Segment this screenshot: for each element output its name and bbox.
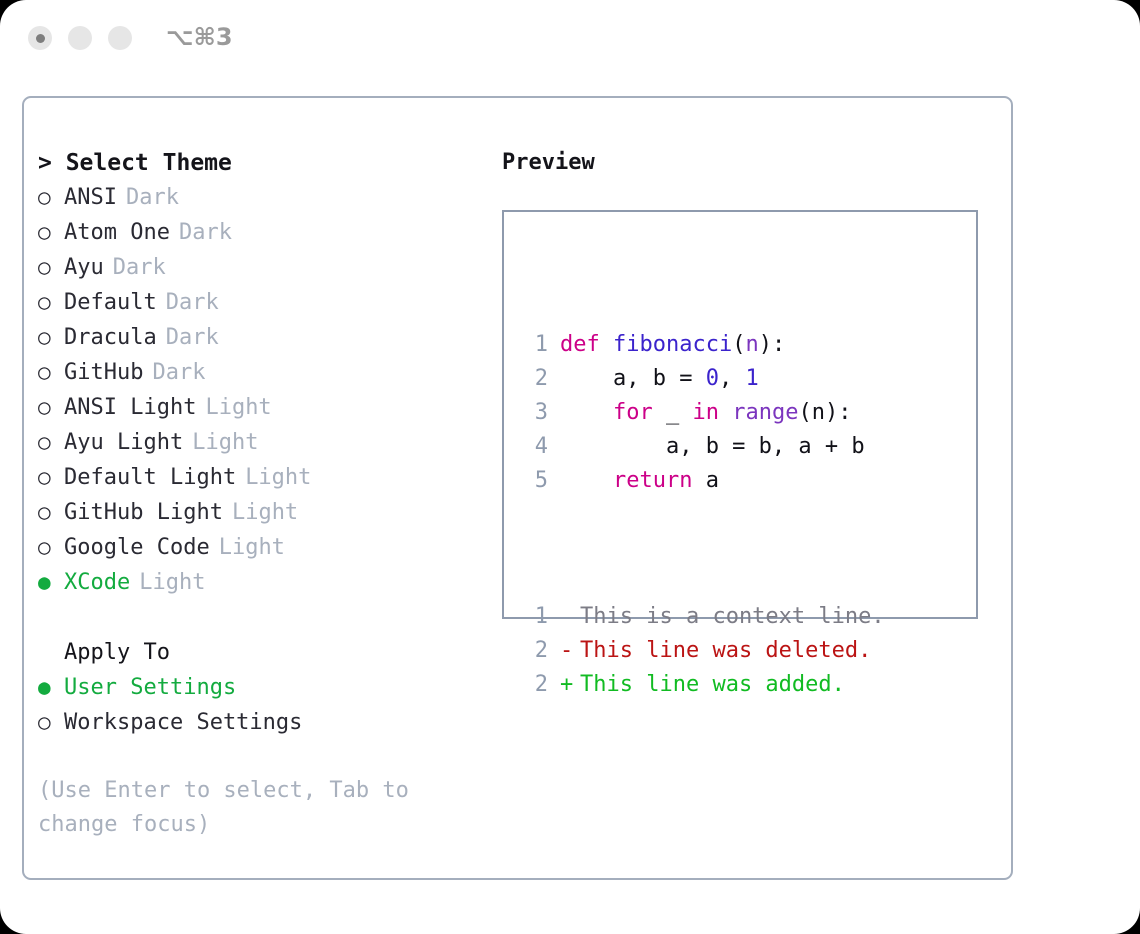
radio-unselected-icon: ○ bbox=[38, 705, 64, 739]
radio-unselected-icon: ○ bbox=[38, 355, 64, 389]
radio-unselected-icon: ○ bbox=[38, 215, 64, 249]
theme-list-item[interactable]: ○GitHubDark bbox=[38, 355, 488, 390]
apply-to-option[interactable]: ●User Settings bbox=[38, 670, 488, 705]
line-number: 2 bbox=[520, 362, 548, 396]
code-text: return a bbox=[560, 464, 719, 498]
window-dot-3-icon[interactable] bbox=[108, 26, 132, 50]
theme-variant-badge: Dark bbox=[166, 286, 219, 320]
diff-sign bbox=[560, 600, 580, 634]
theme-name: ANSI Light bbox=[64, 391, 196, 425]
preview-column: Preview 1def fibonacci(n):2 a, b = 0, 13… bbox=[502, 146, 1002, 619]
code-text: a, b = 0, 1 bbox=[560, 362, 759, 396]
theme-variant-badge: Dark bbox=[113, 251, 166, 285]
radio-selected-icon: ● bbox=[38, 565, 64, 599]
code-token-var: a, b = b, a + b bbox=[560, 434, 865, 459]
theme-list-item[interactable]: ○DefaultDark bbox=[38, 285, 488, 320]
theme-variant-badge: Light bbox=[192, 426, 258, 460]
diff-content: This line was added. bbox=[580, 672, 845, 697]
code-token-kw: in bbox=[692, 400, 719, 425]
line-number: 1 bbox=[520, 600, 548, 634]
diff-block: 1 This is a context line.2-This line was… bbox=[520, 600, 885, 702]
code-token-var bbox=[560, 400, 613, 425]
diff-content: This line was deleted. bbox=[580, 638, 871, 663]
theme-name: Default Light bbox=[64, 461, 236, 495]
theme-variant-badge: Light bbox=[219, 531, 285, 565]
apply-to-label: User Settings bbox=[64, 671, 236, 705]
theme-name: XCode bbox=[64, 566, 130, 600]
apply-to-title: Apply To bbox=[38, 636, 488, 670]
recording-dot-inner bbox=[36, 34, 45, 43]
line-number: 4 bbox=[520, 430, 548, 464]
theme-list: ○ANSIDark○Atom OneDark○AyuDark○DefaultDa… bbox=[38, 180, 488, 600]
code-text: a, b = b, a + b bbox=[560, 430, 865, 464]
theme-list-item[interactable]: ○GitHub LightLight bbox=[38, 495, 488, 530]
code-token-var: _ bbox=[653, 400, 693, 425]
code-line: 2 a, b = 0, 1 bbox=[520, 362, 885, 396]
code-token-fn: fibonacci bbox=[613, 332, 732, 357]
theme-variant-badge: Dark bbox=[179, 216, 232, 250]
code-block: 1def fibonacci(n):2 a, b = 0, 13 for _ i… bbox=[520, 328, 885, 498]
code-line: 5 return a bbox=[520, 464, 885, 498]
panel-columns: > Select Theme ○ANSIDark○Atom OneDark○Ay… bbox=[24, 98, 1011, 878]
theme-list-item[interactable]: ●XCodeLight bbox=[38, 565, 488, 600]
code-token-var: a, b = bbox=[560, 366, 706, 391]
code-token-call: n bbox=[745, 332, 758, 357]
code-token-var: , bbox=[719, 366, 746, 391]
titlebar: ⌥⌘3 bbox=[0, 0, 1140, 78]
code-token-kw: for bbox=[613, 400, 653, 425]
window-dot-2-icon[interactable] bbox=[68, 26, 92, 50]
code-token-var: a bbox=[692, 468, 719, 493]
theme-variant-badge: Light bbox=[245, 461, 311, 495]
code-line: 4 a, b = b, a + b bbox=[520, 430, 885, 464]
apply-to-option[interactable]: ○Workspace Settings bbox=[38, 705, 488, 740]
theme-variant-badge: Dark bbox=[166, 321, 219, 355]
diff-sign: - bbox=[560, 634, 580, 668]
line-number: 1 bbox=[520, 328, 548, 362]
theme-list-item[interactable]: ○ANSI LightLight bbox=[38, 390, 488, 425]
theme-list-item[interactable]: ○Google CodeLight bbox=[38, 530, 488, 565]
line-number: 3 bbox=[520, 396, 548, 430]
theme-name: Google Code bbox=[64, 531, 210, 565]
diff-line: 2+This line was added. bbox=[520, 668, 885, 702]
preview-title: Preview bbox=[502, 146, 1002, 180]
radio-unselected-icon: ○ bbox=[38, 250, 64, 284]
radio-unselected-icon: ○ bbox=[38, 495, 64, 529]
line-number: 2 bbox=[520, 634, 548, 668]
theme-list-item[interactable]: ○Atom OneDark bbox=[38, 215, 488, 250]
theme-variant-badge: Light bbox=[205, 391, 271, 425]
code-token-kw: return bbox=[613, 468, 692, 493]
theme-selector-column: > Select Theme ○ANSIDark○Atom OneDark○Ay… bbox=[38, 146, 488, 842]
line-number: 2 bbox=[520, 668, 548, 702]
theme-variant-badge: Light bbox=[232, 496, 298, 530]
theme-list-item[interactable]: ○AyuDark bbox=[38, 250, 488, 285]
diff-line: 1 This is a context line. bbox=[520, 600, 885, 634]
radio-unselected-icon: ○ bbox=[38, 425, 64, 459]
radio-unselected-icon: ○ bbox=[38, 460, 64, 494]
line-number: 5 bbox=[520, 464, 548, 498]
theme-variant-badge: Dark bbox=[126, 181, 179, 215]
diff-sign: + bbox=[560, 668, 580, 702]
main-panel: > Select Theme ○ANSIDark○Atom OneDark○Ay… bbox=[22, 96, 1013, 880]
code-token-kw: def bbox=[560, 332, 613, 357]
theme-variant-badge: Dark bbox=[152, 356, 205, 390]
apply-to-label: Workspace Settings bbox=[64, 706, 302, 740]
theme-name: Default bbox=[64, 286, 157, 320]
theme-list-item[interactable]: ○Default LightLight bbox=[38, 460, 488, 495]
theme-list-item[interactable]: ○Ayu LightLight bbox=[38, 425, 488, 460]
code-token-pun: ( bbox=[732, 332, 745, 357]
code-token-num: 1 bbox=[745, 366, 758, 391]
theme-name: Atom One bbox=[64, 216, 170, 250]
recording-dot-icon[interactable] bbox=[28, 26, 52, 50]
diff-text-del: -This line was deleted. bbox=[560, 634, 871, 668]
select-theme-heading: > Select Theme bbox=[38, 146, 488, 180]
theme-name: ANSI bbox=[64, 181, 117, 215]
radio-unselected-icon: ○ bbox=[38, 530, 64, 564]
code-token-call: range bbox=[732, 400, 798, 425]
code-line: 3 for _ in range(n): bbox=[520, 396, 885, 430]
app-window: ⌥⌘3 > Select Theme ○ANSIDark○Atom OneDar… bbox=[0, 0, 1140, 934]
code-token-var bbox=[560, 468, 613, 493]
theme-name: Dracula bbox=[64, 321, 157, 355]
code-text: for _ in range(n): bbox=[560, 396, 851, 430]
diff-text-ctx: This is a context line. bbox=[560, 600, 885, 634]
code-token-pun: (n): bbox=[798, 400, 851, 425]
radio-unselected-icon: ○ bbox=[38, 390, 64, 424]
code-text: def fibonacci(n): bbox=[560, 328, 785, 362]
theme-name: GitHub Light bbox=[64, 496, 223, 530]
preview-box: 1def fibonacci(n):2 a, b = 0, 13 for _ i… bbox=[502, 210, 978, 619]
diff-line: 2-This line was deleted. bbox=[520, 634, 885, 668]
code-token-num: 0 bbox=[706, 366, 719, 391]
shortcut-label: ⌥⌘3 bbox=[166, 23, 233, 51]
theme-variant-badge: Light bbox=[139, 566, 205, 600]
window-controls bbox=[28, 26, 132, 50]
radio-unselected-icon: ○ bbox=[38, 320, 64, 354]
theme-list-item[interactable]: ○DraculaDark bbox=[38, 320, 488, 355]
code-line: 1def fibonacci(n): bbox=[520, 328, 885, 362]
code-token-pun: ): bbox=[759, 332, 786, 357]
theme-name: GitHub bbox=[64, 356, 143, 390]
radio-unselected-icon: ○ bbox=[38, 285, 64, 319]
radio-selected-icon: ● bbox=[38, 670, 64, 704]
theme-name: Ayu bbox=[64, 251, 104, 285]
radio-unselected-icon: ○ bbox=[38, 180, 64, 214]
theme-name: Ayu Light bbox=[64, 426, 183, 460]
apply-to-list: ●User Settings○Workspace Settings bbox=[38, 670, 488, 740]
apply-to-section: Apply To ●User Settings○Workspace Settin… bbox=[38, 636, 488, 740]
theme-list-item[interactable]: ○ANSIDark bbox=[38, 180, 488, 215]
code-preview: 1def fibonacci(n):2 a, b = 0, 13 for _ i… bbox=[520, 260, 885, 770]
diff-content: This is a context line. bbox=[580, 604, 885, 629]
diff-text-add: +This line was added. bbox=[560, 668, 845, 702]
code-token-var bbox=[719, 400, 732, 425]
keyboard-hint: (Use Enter to select, Tab to change focu… bbox=[38, 774, 438, 842]
